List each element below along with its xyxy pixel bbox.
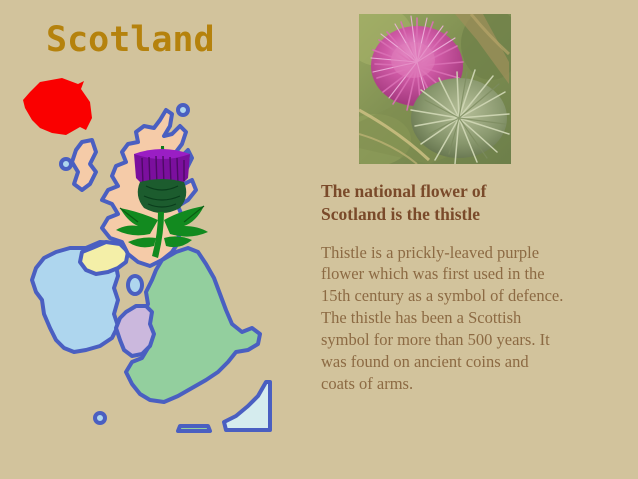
island-dot-orkney (178, 105, 188, 115)
island-dot-west (61, 159, 71, 169)
thistle-photograph (359, 14, 511, 164)
thistle-photo-image (359, 14, 511, 164)
content-heading: The national flower of Scotland is the t… (321, 180, 551, 226)
thistle-clipart-icon (108, 138, 216, 266)
page-title: Scotland (46, 22, 215, 59)
region-france-inset (224, 382, 270, 430)
region-wales (116, 306, 154, 356)
text-column: The national flower of Scotland is the t… (321, 180, 579, 395)
region-hebrides (72, 140, 96, 190)
island-channel-strip (178, 426, 210, 431)
content-paragraph: Thistle is a prickly-leaved purple flowe… (321, 242, 566, 396)
isle-of-man (128, 276, 142, 294)
presentation-slide: Scotland (0, 0, 638, 479)
thistle-clipart (108, 138, 216, 266)
island-dot-scilly (95, 413, 105, 423)
